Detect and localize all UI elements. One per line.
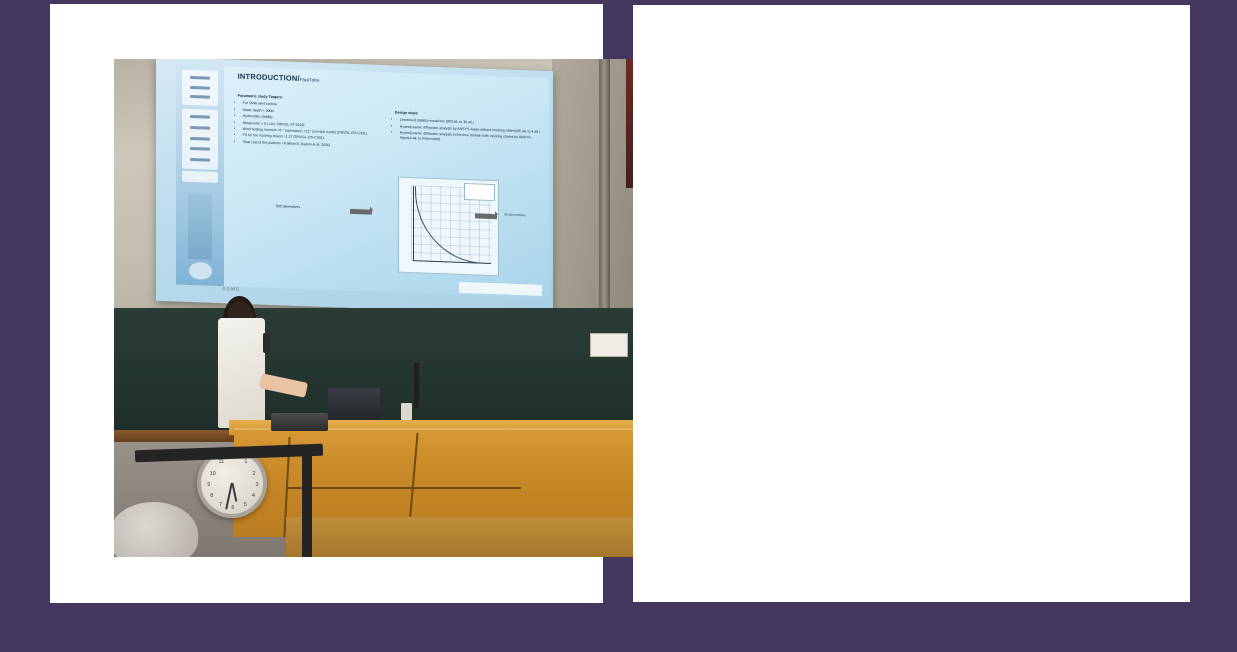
- photo-card-left[interactable]: INTRODUCTION/FloaTolla Parametric study …: [50, 4, 603, 603]
- clock-number: 5: [244, 502, 247, 508]
- cup: [401, 403, 411, 420]
- handrail-post: [302, 447, 312, 557]
- clock-number: 7: [219, 502, 222, 508]
- clock-number: 10: [210, 471, 216, 477]
- clock-number: 1: [244, 459, 247, 465]
- slide-title-sub: FloaTolla: [300, 77, 319, 83]
- flow-input-label: 800 alternatives: [276, 205, 300, 210]
- projector-screen: INTRODUCTION/FloaTolla Parametric study …: [156, 59, 553, 315]
- chart-legend: [463, 183, 495, 201]
- slide-body: INTRODUCTION/FloaTolla Parametric study …: [228, 67, 549, 298]
- wall-sign: [590, 333, 629, 357]
- photo-card-right[interactable]: EVOLEN Yesterday, Today & Tomorrow ASME …: [633, 5, 1190, 602]
- lecture-wall-right: [552, 59, 636, 318]
- clock-number: 3: [256, 482, 259, 488]
- photo-lecture-presentation[interactable]: INTRODUCTION/FloaTolla Parametric study …: [114, 59, 636, 557]
- flow-output-label: 36 alternatives: [504, 213, 526, 218]
- clock-number: 6: [231, 505, 234, 511]
- flow-arrow-icon: [350, 208, 372, 215]
- rail-logo-group-mid: [181, 109, 218, 170]
- speaker-body: [218, 318, 265, 428]
- asme-seal-icon: [188, 261, 212, 281]
- slide-sponsor-rail: [176, 65, 224, 286]
- projector-device: [271, 413, 328, 431]
- slide-title: INTRODUCTION/FloaTolla: [237, 71, 319, 83]
- bench-row: [286, 517, 636, 557]
- microphone-icon: [263, 333, 270, 353]
- slide-right-bullets: Linearised stability equations (800 alt.…: [395, 118, 543, 147]
- door-frame: [599, 59, 610, 333]
- slide-chart-thumbnail: [398, 176, 499, 276]
- rail-logo-group-top: [181, 69, 218, 105]
- slide-footer: [459, 282, 542, 296]
- slide-title-main: INTRODUCTION/: [237, 71, 299, 82]
- clock-number: 4: [252, 493, 255, 499]
- clock-number: 2: [252, 471, 255, 477]
- slide-left-column: Parametric study Targets: For 5MW wind t…: [237, 93, 378, 151]
- desk-microphone-icon: [414, 363, 419, 408]
- clock-number: 11: [218, 459, 224, 465]
- laptop-icon: [328, 388, 380, 420]
- desk-edge-line: [286, 487, 521, 489]
- clock-number: 8: [210, 493, 213, 499]
- slide-left-bullets: For 5MW wind turbine Water depth = 200m …: [237, 101, 378, 150]
- rail-logo-group-bottom: [181, 170, 218, 182]
- slide-right-column: Design steps Linearised stability equati…: [395, 110, 543, 148]
- presentation-slide: INTRODUCTION/FloaTolla Parametric study …: [176, 65, 549, 298]
- rail-event-banner: [188, 193, 212, 260]
- flow-arrow-icon: [475, 213, 497, 220]
- photo-gallery: INTRODUCTION/FloaTolla Parametric study …: [0, 0, 1237, 652]
- clock-number: 9: [207, 482, 210, 488]
